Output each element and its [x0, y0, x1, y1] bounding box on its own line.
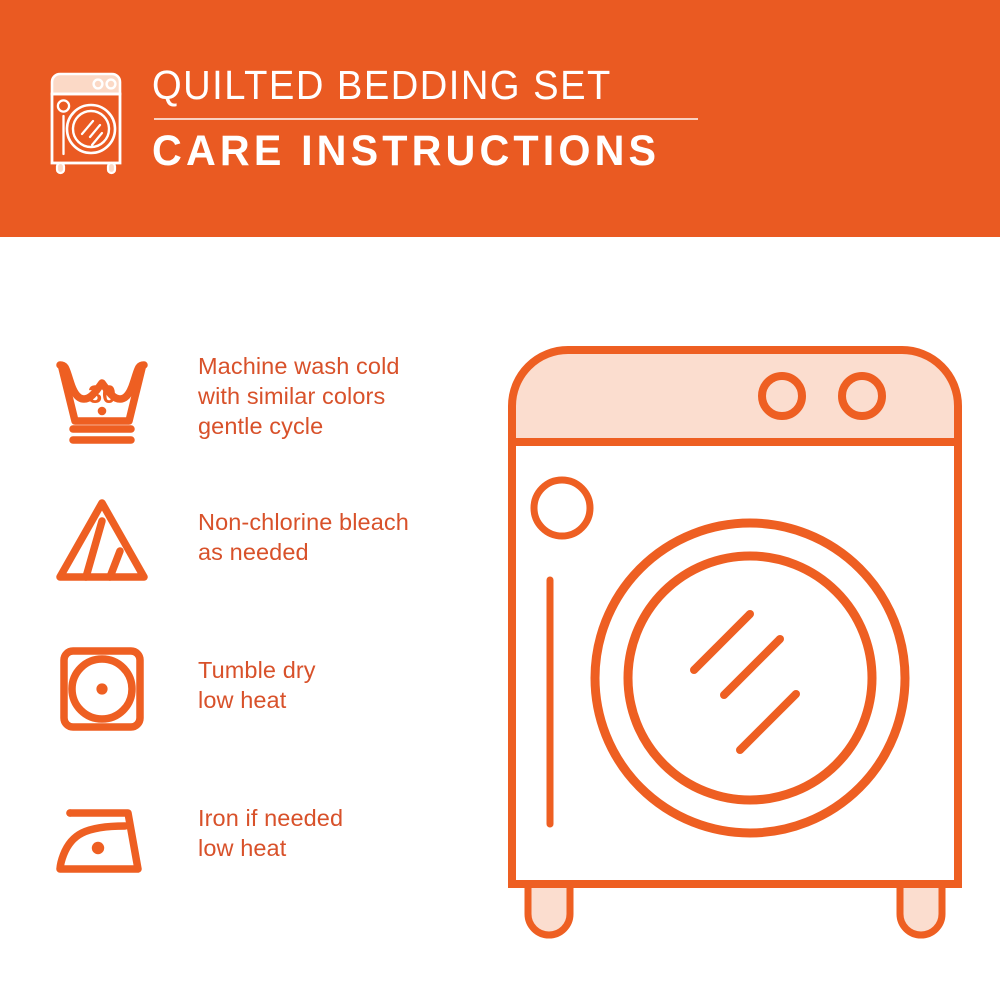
header-content: QUILTED BEDDING SET CARE INSTRUCTIONS — [44, 62, 698, 176]
machine-wash-30-gentle-icon: 30 — [46, 347, 158, 451]
page-title: QUILTED BEDDING SET — [152, 62, 660, 109]
non-chlorine-bleach-triangle-icon — [46, 489, 158, 593]
header-title-group: QUILTED BEDDING SET CARE INSTRUCTIONS — [152, 62, 698, 176]
care-instruction-list: 30 Machine wash cold with similar colors… — [0, 237, 500, 1000]
header-banner: QUILTED BEDDING SET CARE INSTRUCTIONS — [0, 0, 1000, 237]
tumble-dry-low-heat-icon — [46, 637, 158, 741]
iron-low-heat-icon — [46, 785, 158, 889]
wash-temperature-value: 30 — [88, 381, 116, 409]
care-instruction-item: 30 Machine wash cold with similar colors… — [46, 347, 486, 451]
care-instruction-text: Machine wash cold with similar colors ge… — [198, 347, 400, 441]
page-subtitle: CARE INSTRUCTIONS — [152, 127, 676, 176]
control-panel — [512, 350, 958, 444]
washing-machine-logo-icon — [44, 68, 128, 176]
machine-body — [512, 442, 958, 884]
front-load-washing-machine-illustration — [492, 330, 978, 940]
care-instruction-text: Non-chlorine bleach as needed — [198, 489, 409, 567]
care-instruction-text: Tumble dry low heat — [198, 637, 316, 715]
care-instruction-item: Non-chlorine bleach as needed — [46, 489, 486, 593]
header-divider — [154, 118, 698, 120]
care-instruction-item: Tumble dry low heat — [46, 637, 486, 741]
care-instruction-text: Iron if needed low heat — [198, 785, 343, 863]
care-instruction-item: Iron if needed low heat — [46, 785, 486, 889]
